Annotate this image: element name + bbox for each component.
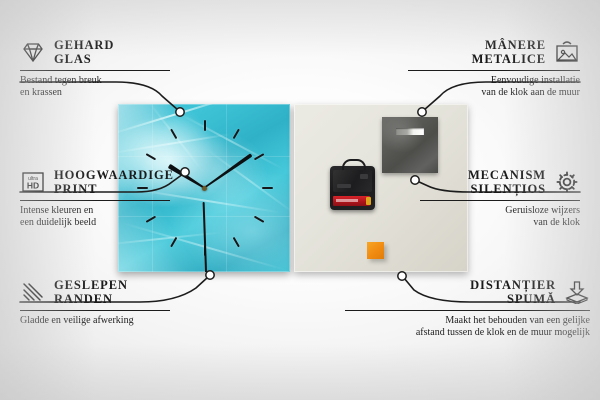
callout-title: MECANISM [468, 168, 546, 182]
callout-desc: Geruisloze wijzers [420, 205, 580, 217]
callout-desc-2: afstand tussen de klok en de muur mogeli… [345, 327, 590, 339]
framed-picture-hook-icon [554, 40, 580, 64]
callout-rule [20, 200, 170, 201]
callout-desc-2: en krassen [20, 87, 170, 99]
callout-desc: Eenvoudige installatie [408, 75, 580, 87]
callout-metal-handles: MÂNERE METALICE Eenvoudige installatie v… [408, 38, 580, 99]
callout-title-2: RANDEN [54, 292, 128, 306]
callout-foam-spacer: DISTANȚIER SPUMĂ Maakt het behouden van … [345, 278, 590, 339]
second-hand [203, 202, 207, 272]
hour-tick [262, 187, 273, 189]
battery-terminal [366, 197, 371, 205]
aa-battery [333, 196, 370, 206]
clock-center-pin [202, 186, 207, 191]
callout-rule [20, 70, 170, 71]
callout-rule [20, 310, 170, 311]
callout-hd-print: ultra HD HOOGWAARDIGE PRINT Intense kleu… [20, 168, 170, 229]
callout-desc: Maakt het behouden van een gelijke [345, 315, 590, 327]
callout-title: GEHARD [54, 38, 114, 52]
callout-desc: Bestand tegen breuk [20, 75, 170, 87]
gear-icon [554, 170, 580, 194]
silent-clock-mechanism [330, 166, 375, 210]
callout-rule [345, 310, 590, 311]
hanger-slot [396, 128, 424, 135]
callout-rule [420, 200, 580, 201]
metal-hanger-plate [382, 117, 438, 173]
ultra-hd-icon: ultra HD [20, 170, 46, 194]
callout-title-2: METALICE [472, 52, 546, 66]
hour-tick [146, 153, 157, 160]
hatch-lines-icon [20, 280, 46, 304]
callout-title-2: SILENȚIOS [468, 182, 546, 196]
minute-hand [203, 153, 253, 190]
hour-tick [233, 237, 240, 248]
infographic-canvas: GEHARD GLAS Bestand tegen breuk en krass… [0, 0, 600, 400]
hour-tick [233, 129, 240, 140]
callout-title-2: SPUMĂ [470, 292, 556, 306]
hour-tick [170, 237, 177, 248]
callout-title: HOOGWAARDIGE [54, 168, 174, 182]
callout-rule [408, 70, 580, 71]
callout-title-2: GLAS [54, 52, 114, 66]
callout-silent-mechanism: MECANISM SILENȚIOS Geruisloze wijzers va… [420, 168, 580, 229]
callout-desc-2: van de klok aan de muur [408, 87, 580, 99]
arrow-onto-pad-icon [564, 280, 590, 304]
callout-desc: Gladde en veilige afwerking [20, 315, 170, 327]
hour-tick [254, 216, 265, 223]
hour-tick [170, 129, 177, 140]
hour-tick [254, 153, 265, 160]
svg-text:HD: HD [27, 181, 39, 191]
callout-title-2: PRINT [54, 182, 174, 196]
callout-desc-2: van de klok [420, 217, 580, 229]
callout-tempered-glass: GEHARD GLAS Bestand tegen breuk en krass… [20, 38, 170, 99]
diamond-icon [20, 40, 46, 64]
callout-desc: Intense kleuren en [20, 205, 170, 217]
callout-ground-edges: GESLEPEN RANDEN Gladde en veilige afwerk… [20, 278, 170, 327]
callout-title: GESLEPEN [54, 278, 128, 292]
hour-tick [204, 120, 206, 131]
callout-title: MÂNERE [472, 38, 546, 52]
battery-label [336, 199, 358, 202]
foam-spacer [367, 242, 384, 259]
callout-desc-2: een duidelijk beeld [20, 217, 170, 229]
callout-title: DISTANȚIER [470, 278, 556, 292]
